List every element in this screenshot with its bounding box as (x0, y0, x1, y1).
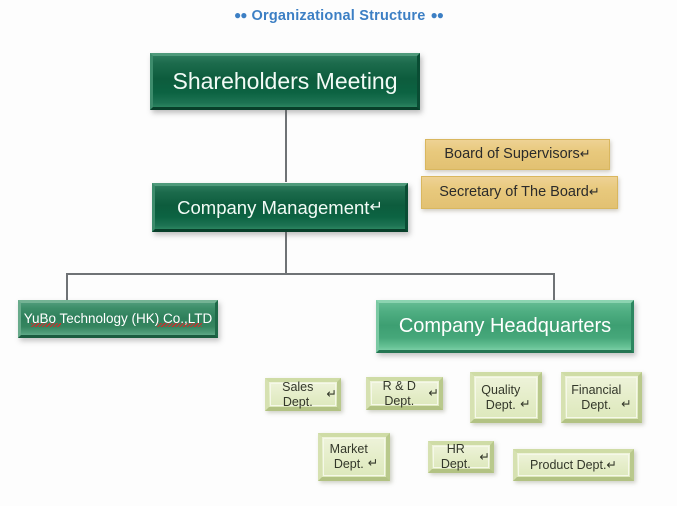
node-department-financial[interactable]: Financial Dept.↵ (561, 372, 642, 423)
page-title: ●●Organizational Structure●● (0, 8, 677, 24)
node-yubo-technology[interactable]: YuBo Technology (HK) Co.,LTD (18, 300, 218, 338)
node-secretary-of-the-board-return-icon: ↵ (589, 185, 600, 200)
node-company-headquarters[interactable]: Company Headquarters (376, 300, 634, 353)
node-department-financial-label: Financial Dept. (571, 383, 621, 413)
connector-management-drop (285, 232, 287, 274)
node-secretary-of-the-board[interactable]: Secretary of The Board↵ (421, 176, 618, 209)
node-department-hr-label: HR Dept. (432, 442, 480, 472)
node-department-sales-return-icon: ↵ (327, 387, 337, 402)
connector-drop-to-headquarters (553, 273, 555, 302)
node-department-financial-return-icon: ↵ (621, 397, 631, 412)
connector-horizontal-bus (66, 273, 554, 275)
node-department-hr[interactable]: HR Dept.↵ (428, 441, 494, 473)
node-department-sales[interactable]: Sales Dept.↵ (265, 378, 341, 411)
node-department-quality[interactable]: Quality Dept.↵ (470, 372, 542, 423)
node-department-market[interactable]: Market Dept.↵ (318, 433, 390, 481)
node-department-product-label: Product Dept. (530, 458, 606, 473)
node-company-management-label: Company Management (177, 197, 369, 219)
node-board-of-supervisors-return-icon: ↵ (580, 147, 591, 162)
node-department-quality-label: Quality Dept. (481, 383, 520, 413)
node-board-of-supervisors[interactable]: Board of Supervisors↵ (425, 139, 610, 170)
node-company-management-return-icon: ↵ (369, 198, 382, 217)
title-left-decoration-icon: ●● (234, 8, 247, 22)
connector-drop-to-yubo (66, 273, 68, 302)
node-department-rnd[interactable]: R & D Dept.↵ (366, 377, 443, 410)
org-chart-canvas: ●●Organizational Structure●● Shareholder… (0, 0, 677, 506)
node-department-rnd-return-icon: ↵ (429, 386, 439, 401)
title-right-decoration-icon: ●● (431, 8, 444, 22)
node-board-of-supervisors-label: Board of Supervisors (444, 146, 579, 163)
node-department-market-return-icon: ↵ (368, 456, 378, 471)
node-company-headquarters-label: Company Headquarters (399, 315, 611, 339)
node-shareholders-meeting-label: Shareholders Meeting (172, 68, 397, 95)
node-company-management[interactable]: Company Management↵ (152, 183, 408, 232)
node-department-market-label: Market Dept. (330, 442, 368, 472)
node-department-rnd-label: R & D Dept. (370, 379, 429, 409)
node-shareholders-meeting[interactable]: Shareholders Meeting (150, 53, 420, 110)
node-secretary-of-the-board-label: Secretary of The Board (439, 184, 589, 201)
node-yubo-technology-label: YuBo Technology (HK) Co.,LTD (24, 311, 213, 327)
title-text: Organizational Structure (247, 8, 431, 24)
connector-shareholders-to-management (285, 110, 287, 182)
node-department-product[interactable]: Product Dept.↵ (513, 449, 634, 481)
node-department-hr-return-icon: ↵ (480, 450, 490, 465)
node-department-sales-label: Sales Dept. (269, 380, 327, 410)
node-department-quality-return-icon: ↵ (520, 397, 530, 412)
node-department-product-return-icon: ↵ (606, 458, 616, 473)
